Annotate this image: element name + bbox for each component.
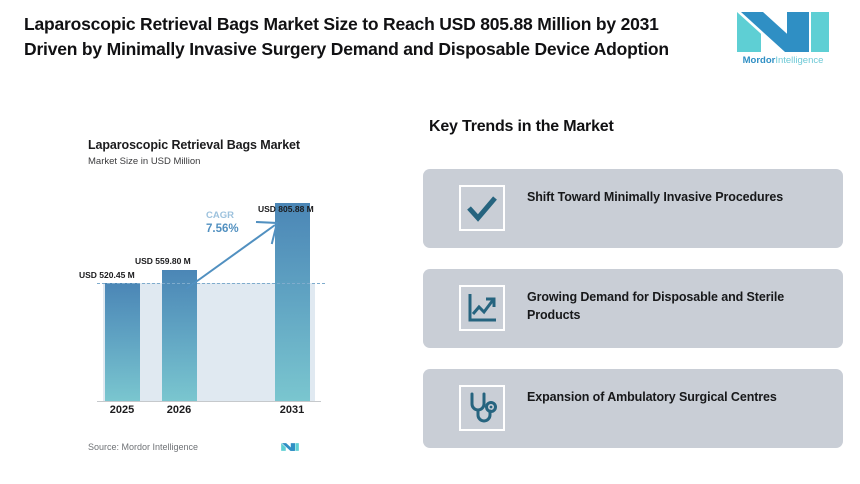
logo-mark <box>731 10 835 54</box>
key-trends-title: Key Trends in the Market <box>429 118 614 136</box>
key-trends-panel: Key Trends in the Market Shift Toward Mi… <box>400 100 860 484</box>
trend-card-disposable-sterile[interactable]: Growing Demand for Disposable and Steril… <box>423 269 843 348</box>
bar-value-label-2031: USD 805.88 M <box>258 204 314 214</box>
trend-card-label: Shift Toward Minimally Invasive Procedur… <box>527 188 817 206</box>
mordor-intelligence-small-logo <box>280 439 300 455</box>
x-axis-label-2025: 2025 <box>99 404 145 416</box>
bar-chart-plot: USD 520.45 M USD 559.80 M USD 805.88 M C… <box>75 188 325 408</box>
chart-subtitle: Market Size in USD Million <box>88 156 200 167</box>
mordor-intelligence-logo: MordorIntelligence <box>731 10 835 72</box>
cagr-value: 7.56% <box>206 223 239 235</box>
logo-wordmark: MordorIntelligence <box>731 55 835 66</box>
trend-card-ambulatory-centres[interactable]: Expansion of Ambulatory Surgical Centres <box>423 369 843 448</box>
bar-value-label-2025: USD 520.45 M <box>79 270 135 280</box>
logo-word-mordor: Mordor <box>743 55 776 66</box>
page-header: Laparoscopic Retrieval Bags Market Size … <box>0 0 860 100</box>
chart-source-row: Source: Mordor Intelligence <box>88 440 318 460</box>
trend-card-minimally-invasive[interactable]: Shift Toward Minimally Invasive Procedur… <box>423 169 843 248</box>
chart-panel: Laparoscopic Retrieval Bags Market Marke… <box>0 100 400 484</box>
page-title: Laparoscopic Retrieval Bags Market Size … <box>24 12 714 62</box>
bar-2025 <box>105 283 140 401</box>
growth-chart-icon <box>459 285 505 331</box>
chart-source-text: Source: Mordor Intelligence <box>88 442 198 452</box>
cagr-label: CAGR <box>206 210 234 221</box>
x-axis-label-2026: 2026 <box>156 404 202 416</box>
trend-card-label: Growing Demand for Disposable and Steril… <box>527 288 817 324</box>
check-icon <box>459 185 505 231</box>
chart-title: Laparoscopic Retrieval Bags Market <box>88 138 300 152</box>
chart-baseline-axis <box>97 401 321 402</box>
trend-card-label: Expansion of Ambulatory Surgical Centres <box>527 388 817 406</box>
stethoscope-icon <box>459 385 505 431</box>
x-axis-label-2031: 2031 <box>269 404 315 416</box>
logo-word-intelligence: Intelligence <box>775 55 823 66</box>
